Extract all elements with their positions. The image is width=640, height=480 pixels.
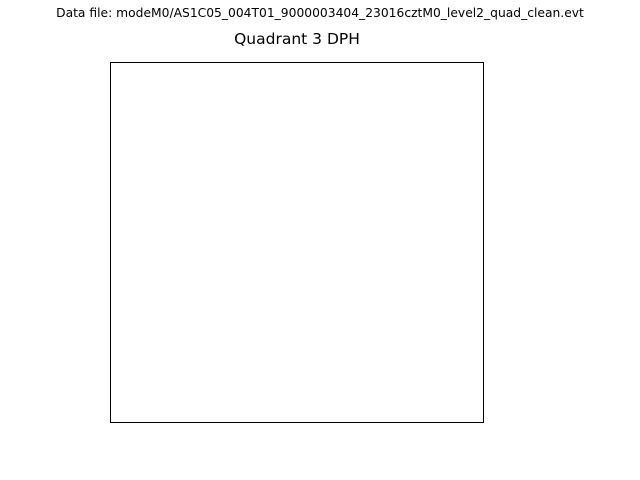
colorbar-gradient xyxy=(510,62,528,423)
data-file-suptitle: Data file: modeM0/AS1C05_004T01_90000034… xyxy=(0,6,640,20)
plot-title: Quadrant 3 DPH xyxy=(110,30,484,48)
heatmap-plot-area[interactable] xyxy=(110,62,484,423)
colorbar[interactable] xyxy=(510,62,528,423)
heatmap-image xyxy=(111,63,484,423)
matplotlib-figure: Data file: modeM0/AS1C05_004T01_90000034… xyxy=(0,0,640,480)
